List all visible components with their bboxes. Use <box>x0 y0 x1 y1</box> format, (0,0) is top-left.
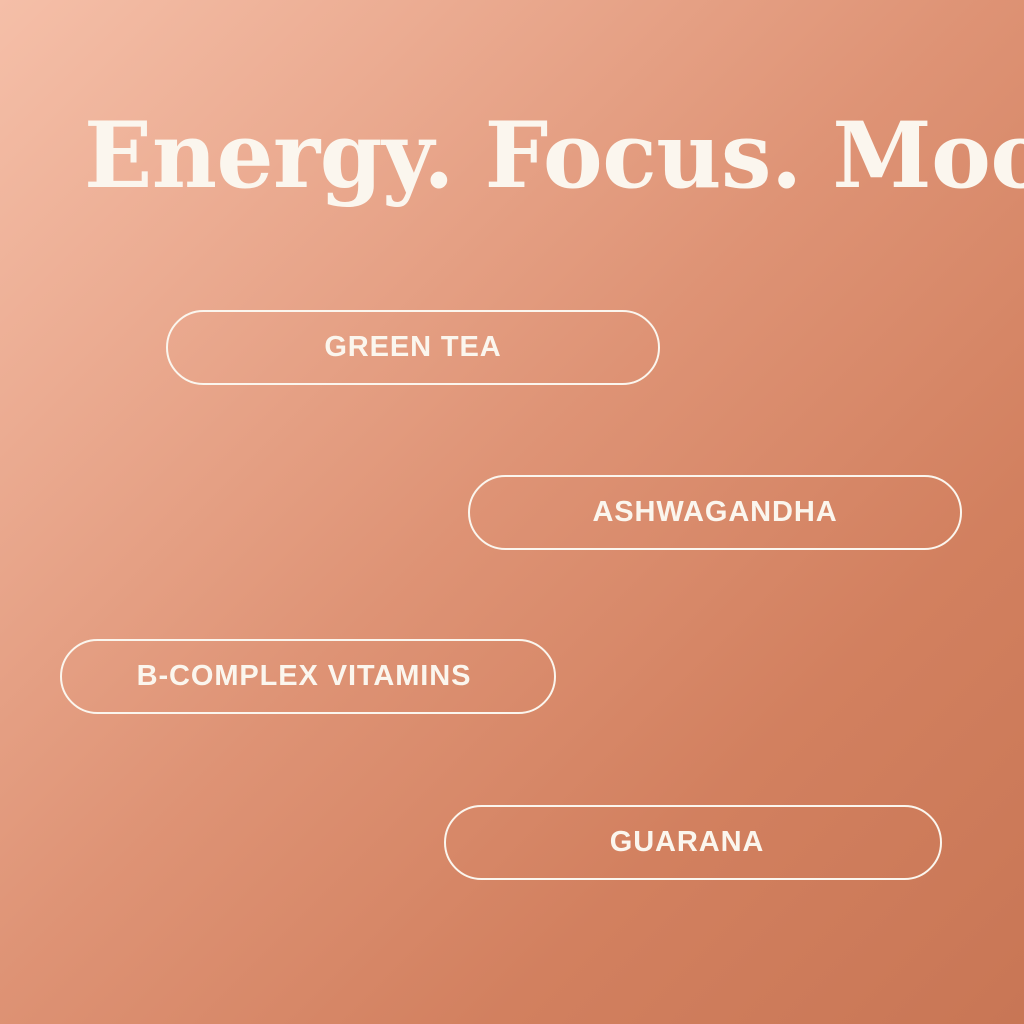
ingredient-pill-label: B-COMPLEX VITAMINS <box>137 662 472 691</box>
promo-poster: Energy. Focus. Mood GREEN TEA ASHWAGANDH… <box>0 0 1024 1024</box>
page-title: Energy. Focus. Mood <box>84 108 941 204</box>
ingredient-pill-b-complex-vitamins[interactable]: B-COMPLEX VITAMINS <box>60 639 556 714</box>
ingredient-pill-label: GREEN TEA <box>324 333 501 362</box>
ingredient-pill-ashwagandha[interactable]: ASHWAGANDHA <box>468 475 962 550</box>
ingredient-pill-green-tea[interactable]: GREEN TEA <box>166 310 660 385</box>
ingredient-pill-guarana[interactable]: GUARANA <box>444 805 942 880</box>
ingredient-pill-label: ASHWAGANDHA <box>592 498 837 527</box>
ingredient-pill-label: GUARANA <box>610 828 765 857</box>
